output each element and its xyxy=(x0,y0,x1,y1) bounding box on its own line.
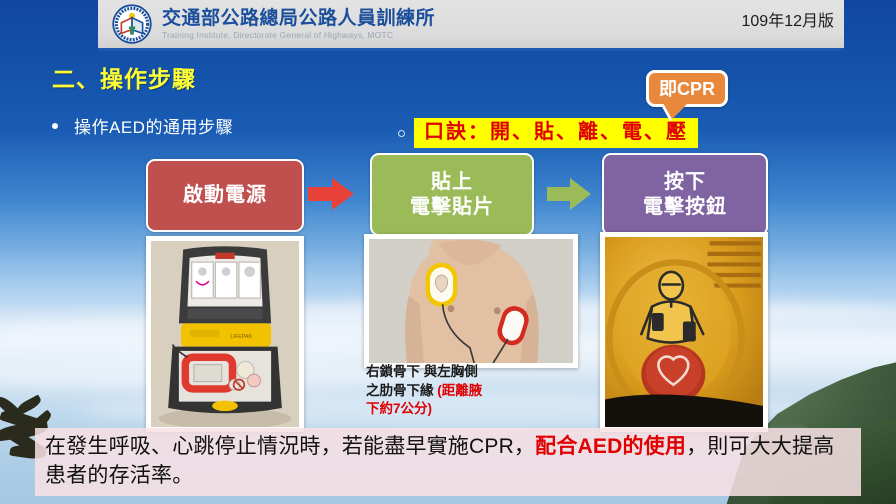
step-label-line1: 貼上 xyxy=(431,170,473,194)
step-label-line2: 電擊按鈕 xyxy=(643,195,727,219)
svg-text:LIFEPAK: LIFEPAK xyxy=(230,334,252,340)
step-label-line2: 電擊貼片 xyxy=(410,195,494,219)
org-name-en: Training Institute, Directorate General … xyxy=(162,31,435,40)
photo-aed-shock-button xyxy=(600,232,768,432)
banner-text-highlight: 配合AED的使用 xyxy=(535,435,686,458)
arrow-step2-to-step3-icon xyxy=(545,176,593,212)
institute-emblem-icon xyxy=(112,4,152,44)
mnemonic-highlight-box: 口訣：開、貼、離、電、壓 xyxy=(414,118,698,148)
callout-tail-icon xyxy=(663,103,688,119)
header-underline xyxy=(98,48,844,51)
bottom-summary-banner: 在發生呼吸、心跳停止情況時，若能盡早實施CPR，配合AED的使用，則可大大提高患… xyxy=(35,428,861,496)
caption-line2: 之肋骨下緣 xyxy=(366,383,437,398)
pad-placement-caption: 右鎖骨下 與左胸側 之肋骨下緣 (距離腋 下約7公分) xyxy=(366,363,546,419)
version-label: 109年12月版 xyxy=(742,7,835,31)
org-title-block: 交通部公路總局公路人員訓練所 Training Institute, Direc… xyxy=(162,9,435,40)
caption-line2-red: (距離腋 xyxy=(437,383,482,398)
step-box-attach-pads[interactable]: 貼上 電擊貼片 xyxy=(370,153,534,236)
photo-aed-device-open: LIFEPAK xyxy=(146,236,304,432)
mnemonic-row: 口訣：開、貼、離、電、壓 xyxy=(398,118,698,148)
step-label-line1: 按下 xyxy=(664,170,706,194)
mnemonic-bullet-icon xyxy=(398,130,405,137)
header-bar: 交通部公路總局公路人員訓練所 Training Institute, Direc… xyxy=(98,0,844,48)
arrow-step1-to-step2-icon xyxy=(306,176,356,212)
caption-line3-red: 下約7公分) xyxy=(366,401,432,416)
callout-label: 即CPR xyxy=(659,79,715,99)
bullet-item-label: 操作AED的通用步驟 xyxy=(74,113,233,138)
step-label-line1: 啟動電源 xyxy=(183,183,267,207)
slide-canvas: 交通部公路總局公路人員訓練所 Training Institute, Direc… xyxy=(0,0,896,504)
banner-text-part1: 在發生呼吸、心跳停止情況時，若能盡早實施CPR， xyxy=(45,435,535,458)
page-title: 二、操作步驟 xyxy=(52,60,196,94)
step-box-power-on[interactable]: 啟動電源 xyxy=(146,159,304,232)
org-name-zh: 交通部公路總局公路人員訓練所 xyxy=(162,9,435,28)
bullet-dot-icon xyxy=(52,123,58,129)
callout-bubble: 即CPR xyxy=(646,70,728,107)
caption-line1: 右鎖骨下 與左胸側 xyxy=(366,364,478,379)
photo-pad-placement-torso xyxy=(364,234,578,368)
bullet-item: 操作AED的通用步驟 xyxy=(52,113,233,138)
step-box-press-shock[interactable]: 按下 電擊按鈕 xyxy=(602,153,768,236)
